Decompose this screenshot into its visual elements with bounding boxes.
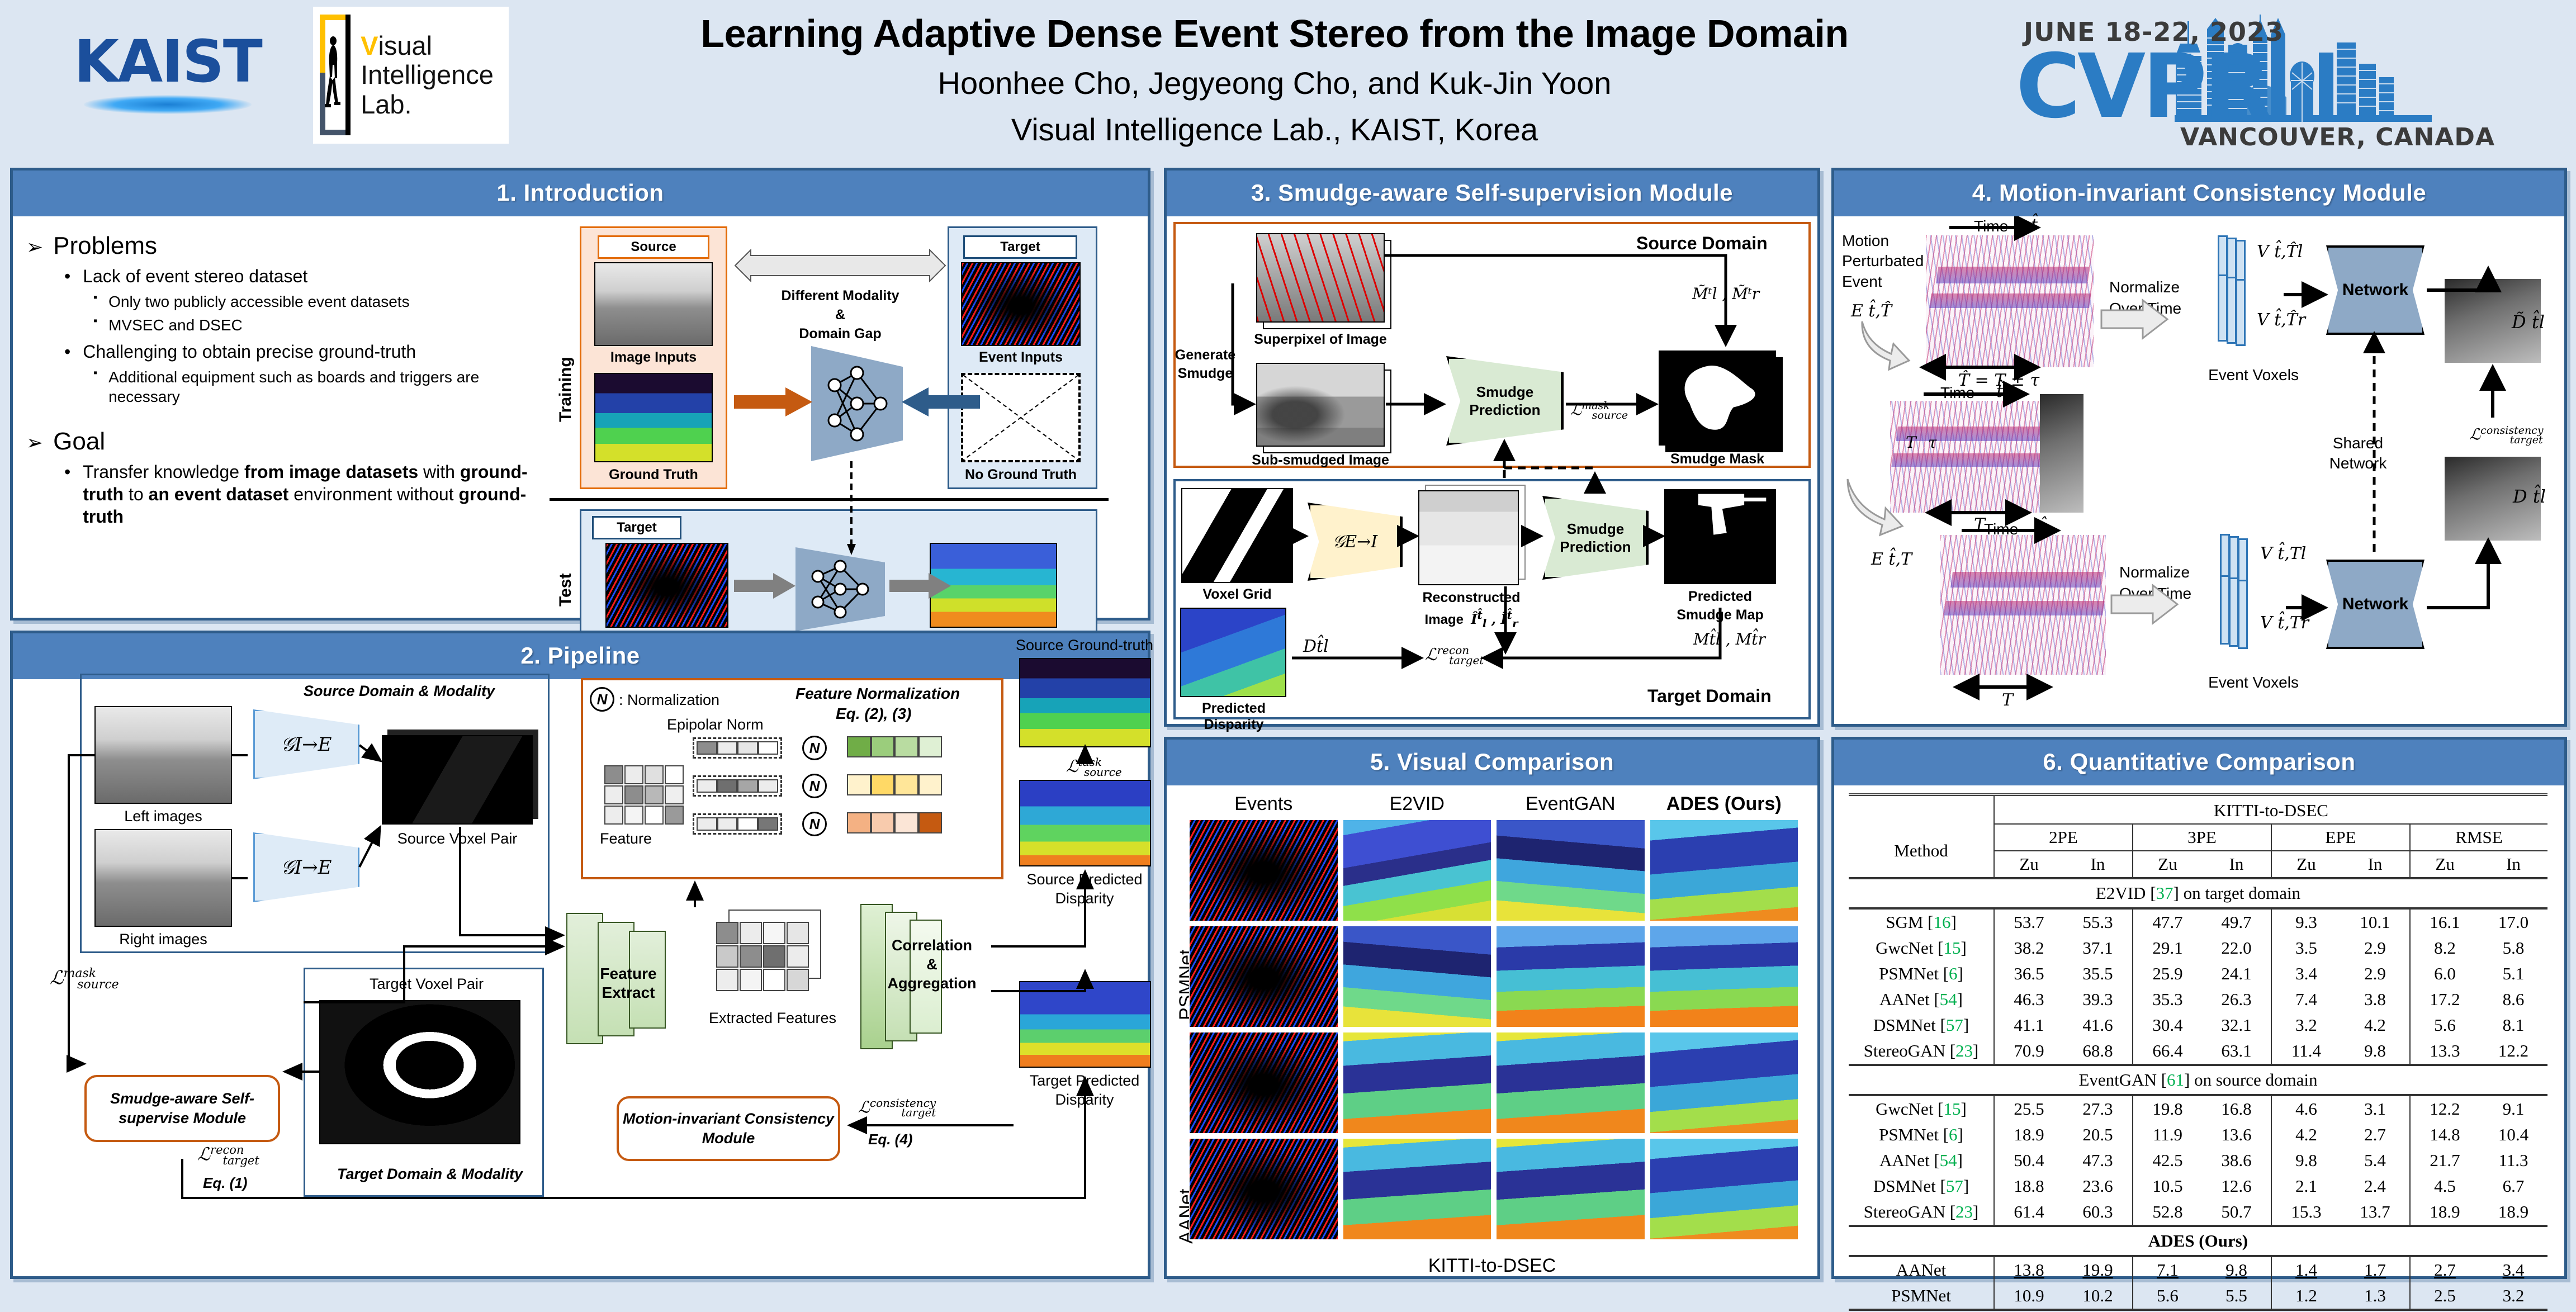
table-cell-value: 18.9 xyxy=(2479,1199,2547,1226)
table-cell-value: 3.8 xyxy=(2341,987,2410,1012)
cell-e2vid-r4 xyxy=(1343,1138,1492,1240)
loss-consistency-target-label: ℒconsistencytarget xyxy=(858,1096,936,1119)
map-symbols: Mt̂l , Mt̂r xyxy=(1693,630,1765,648)
table-cell-value: 35.5 xyxy=(2063,961,2133,987)
mlp-icon xyxy=(811,346,903,461)
table-cell-method: AANet [54] xyxy=(1849,987,1994,1012)
normalize-over-time-label-2: NormalizeOver Time xyxy=(2119,562,2209,604)
table-cell-value: 7.1 xyxy=(2133,1256,2202,1283)
table-row: PSMNet10.910.25.65.51.21.32.53.2 xyxy=(1849,1283,2547,1310)
table-cell-value: 55.3 xyxy=(2063,908,2133,935)
table-cell-value: 10.1 xyxy=(2341,908,2410,935)
source-gt-thumb xyxy=(1019,658,1151,747)
table-cell-value: 2.9 xyxy=(2341,961,2410,987)
target-voxel-thumb xyxy=(319,1000,520,1144)
norm-out-2 xyxy=(847,774,942,795)
table-cell-value: 12.2 xyxy=(2479,1038,2547,1065)
source-tag: Source xyxy=(598,235,709,259)
group-3pe: 3PE xyxy=(2133,824,2271,851)
event-cloud-top xyxy=(1926,235,2094,367)
cell-eventgan-r2 xyxy=(1496,926,1645,1027)
table-cell-value: 9.8 xyxy=(2271,1148,2341,1173)
network-block-top[interactable]: Network xyxy=(2326,245,2425,335)
loss-recon-target-label: ℒrecontarget xyxy=(197,1143,259,1167)
table-cell-value: 4.6 xyxy=(2271,1095,2341,1122)
table-cell-method: GwcNet [15] xyxy=(1849,935,1994,961)
table-cell-value: 17.2 xyxy=(2410,987,2479,1012)
table-cell-value: 19.9 xyxy=(2063,1256,2133,1283)
table-cell-method: PSMNet [6] xyxy=(1849,961,1994,987)
motion-module-box[interactable]: Motion-invariant Consistency Module xyxy=(617,1096,840,1161)
table-cell-value: 3.2 xyxy=(2479,1283,2547,1310)
problems-heading: ➢ Problems xyxy=(26,232,552,260)
image-inputs-caption: Image Inputs xyxy=(594,349,713,366)
table-row: StereoGAN [23]61.460.352.850.715.313.718… xyxy=(1849,1199,2547,1226)
table-cell-value: 5.8 xyxy=(2479,935,2547,961)
cell-ades-r4 xyxy=(1650,1138,1799,1240)
table-row: StereoGAN [23]70.968.866.463.111.49.813.… xyxy=(1849,1038,2547,1065)
sub-smudged-thumb xyxy=(1256,363,1385,447)
correlation-label-1: Correlation xyxy=(872,936,992,955)
table-cell-value: 14.8 xyxy=(2410,1122,2479,1148)
sub-zu-3: Zu xyxy=(2271,851,2341,878)
table-row: SGM [16]53.755.347.749.79.310.116.117.0 xyxy=(1849,908,2547,935)
feat-norm-title: Feature Normalization xyxy=(795,685,960,703)
superpixel-caption: Superpixel of Image xyxy=(1239,331,1401,348)
event-inputs-thumb xyxy=(961,262,1081,346)
visual-comparison-grid: Events E2VID EventGAN ADES (Ours) xyxy=(1189,793,1798,1240)
epipolar-bar-2 xyxy=(693,775,782,797)
lab-logo-isual: isual xyxy=(378,31,432,60)
cell-e2vid-r2 xyxy=(1343,926,1492,1027)
network-block-training xyxy=(811,346,903,461)
table-cell-value: 35.3 xyxy=(2133,987,2202,1012)
t-hat-top: t̂ xyxy=(2031,215,2038,235)
section-4-title: 4. Motion-invariant Consistency Module xyxy=(1834,170,2564,216)
table-cell-value: 8.2 xyxy=(2410,935,2479,961)
table-row: AANet [54]46.339.335.326.37.43.817.28.6 xyxy=(1849,987,2547,1012)
time-label-mid: Time xyxy=(1940,384,1974,402)
table-cell-value: 53.7 xyxy=(1994,908,2063,935)
table-cell-method: PSMNet [6] xyxy=(1849,1122,1994,1148)
feature-cube xyxy=(604,765,684,825)
table-cell-value: 5.6 xyxy=(2133,1283,2202,1310)
table-cell-value: 20.5 xyxy=(2063,1122,2133,1148)
section-1-title: 1. Introduction xyxy=(13,170,1148,216)
dataset-header: KITTI-to-DSEC xyxy=(1994,795,2547,825)
time-label-top: Time xyxy=(1974,217,2008,235)
table-cell-value: 5.1 xyxy=(2479,961,2547,987)
source-domain-label: Source Domain & Modality xyxy=(304,683,495,700)
sub-zu-1: Zu xyxy=(1994,851,2063,878)
kaist-swoosh-graphic xyxy=(84,95,252,114)
table-cell-value: 4.2 xyxy=(2341,1012,2410,1038)
section-motion-module: 4. Motion-invariant Consistency Module M… xyxy=(1831,168,2567,727)
problem-item-2a: ▪Additional equipment such as boards and… xyxy=(93,368,552,406)
ground-truth-caption: Ground Truth xyxy=(594,467,713,483)
method-header: Method xyxy=(1849,824,1994,878)
lab-logo-ab: ab. xyxy=(375,89,411,119)
predicted-disparity-caption: Predicted Disparity xyxy=(1172,700,1295,733)
t-hat-mid: t̂ xyxy=(1996,382,2003,401)
table-cell-value: 2.7 xyxy=(2410,1256,2479,1283)
table-cell-value: 1.4 xyxy=(2271,1256,2341,1283)
superpixel-thumb xyxy=(1256,233,1385,323)
table-cell-value: 16.1 xyxy=(2410,908,2479,935)
quantitative-table: KITTI-to-DSEC Method 2PE 3PE EPE RMSE Zu… xyxy=(1849,793,2547,1311)
table-cell-value: 11.3 xyxy=(2479,1148,2547,1173)
table-cell-value: 36.5 xyxy=(1994,961,2063,987)
correlation-label-3: Aggregation xyxy=(872,974,992,993)
table-cell-value: 1.2 xyxy=(2271,1283,2341,1310)
table-cell-value: 2.5 xyxy=(2410,1283,2479,1310)
table-cell-value: 17.0 xyxy=(2479,908,2547,935)
table-cell-value: 11.4 xyxy=(2271,1038,2341,1065)
table-row: AANet [54]50.447.342.538.69.85.421.711.3 xyxy=(1849,1148,2547,1173)
table-cell-value: 10.5 xyxy=(2133,1173,2202,1199)
ground-truth-thumb xyxy=(594,373,713,462)
goal-item-1: • Transfer knowledge from image datasets… xyxy=(64,461,552,528)
e-symbol: E t̂,T xyxy=(1871,550,1912,569)
table-cell-value: 3.1 xyxy=(2341,1095,2410,1122)
table-cell-value: 2.4 xyxy=(2341,1173,2410,1199)
training-side-label: Training xyxy=(556,357,575,422)
feature-extract-block: Feature Extract xyxy=(566,913,695,1044)
cell-events-r4 xyxy=(1189,1138,1338,1240)
table-group-header: ADES (Ours) xyxy=(1849,1226,2547,1256)
lab-logo-v: V xyxy=(361,31,378,60)
table-cell-value: 7.4 xyxy=(2271,987,2341,1012)
cell-ades-r2 xyxy=(1650,926,1799,1027)
table-cell-method: StereoGAN [23] xyxy=(1849,1038,1994,1065)
loss-recon-target-label-s3: ℒrecontarget xyxy=(1425,643,1484,667)
mask-symbols: M̃ᵗl , M̃ᵗr xyxy=(1692,285,1759,303)
group-2pe: 2PE xyxy=(1994,824,2133,851)
vr-symbol: V t̂,Tr xyxy=(2260,613,2309,633)
t-hat-bottom: t̂ xyxy=(2040,518,2047,538)
table-cell-value: 50.7 xyxy=(2202,1199,2271,1226)
eq1-label: Eq. (1) xyxy=(203,1174,247,1192)
source-domain-label: Source Domain xyxy=(1636,233,1768,254)
lab-logo-i: I xyxy=(361,60,368,89)
event-cloud-mid xyxy=(1890,401,2058,513)
table-cell-value: 37.1 xyxy=(2063,935,2133,961)
source-voxel-pair-thumb xyxy=(382,735,533,825)
epipolar-norm-label: Epipolar Norm xyxy=(667,716,764,733)
cell-e2vid-r3 xyxy=(1343,1032,1492,1134)
smudge-mask-thumb xyxy=(1659,351,1776,446)
table-cell-value: 50.4 xyxy=(1994,1148,2063,1173)
normalization-legend-label: : Normalization xyxy=(619,691,719,709)
table-cell-value: 38.6 xyxy=(2202,1148,2271,1173)
normalization-legend-icon: N xyxy=(590,687,614,712)
sub-in-2: In xyxy=(2202,851,2271,878)
table-cell-value: 24.1 xyxy=(2202,961,2271,987)
table-cell-value: 4.5 xyxy=(2410,1173,2479,1199)
right-images-label: Right images xyxy=(94,931,232,948)
normalize-over-time-label-1: NormalizeOver Time xyxy=(2109,277,2199,319)
double-arrow-icon xyxy=(734,249,946,282)
epipolar-bar-3 xyxy=(693,813,782,835)
cvpr-wordmark: CVPR xyxy=(2016,42,2269,131)
table-cell-value: 32.1 xyxy=(2202,1012,2271,1038)
generate-smudge-label: GenerateSmudge xyxy=(1175,346,1236,382)
table-cell-value: 47.3 xyxy=(2063,1148,2133,1173)
sub-in-3: In xyxy=(2341,851,2410,878)
table-cell-value: 29.1 xyxy=(2133,935,2202,961)
table-cell-value: 5.4 xyxy=(2341,1148,2410,1173)
table-cell-value: 18.9 xyxy=(2410,1199,2479,1226)
cvpr-logo: JUNE 18-22, 2023 CVPR VANCOUVER, CANADA xyxy=(2012,4,2549,155)
table-cell-value: 15.3 xyxy=(2271,1199,2341,1226)
source-pred-disp-label: Source Predicted Disparity xyxy=(1014,870,1156,908)
walking-person-icon xyxy=(325,36,342,111)
table-cell-value: 41.1 xyxy=(1994,1012,2063,1038)
table-cell-value: 25.9 xyxy=(2133,961,2202,987)
blue-arrow-icon xyxy=(902,387,980,416)
table-cell-value: 1.7 xyxy=(2341,1256,2410,1283)
table-cell-value: 70.9 xyxy=(1994,1038,2063,1065)
group-rmse: RMSE xyxy=(2410,824,2547,851)
table-cell-method: AANet [54] xyxy=(1849,1148,1994,1173)
table-row: GwcNet [15]38.237.129.122.03.52.98.25.8 xyxy=(1849,935,2547,961)
section-3-title: 3. Smudge-aware Self-supervision Module xyxy=(1167,170,1817,216)
voxel-grid-thumb xyxy=(1181,488,1293,583)
goal-heading: ➢ Goal xyxy=(26,428,552,456)
cell-eventgan-r1 xyxy=(1496,820,1645,921)
table-cell-method: PSMNet xyxy=(1849,1283,1994,1310)
table-cell-value: 6.7 xyxy=(2479,1173,2547,1199)
table-cell-value: 9.3 xyxy=(2271,908,2341,935)
arrow-bullet-icon-2: ➢ xyxy=(26,431,43,454)
section-introduction: 1. Introduction ➢ Problems •Lack of even… xyxy=(10,168,1150,621)
table-cell-value: 16.8 xyxy=(2202,1095,2271,1122)
predicted-disparity-thumb xyxy=(1180,608,1286,697)
table-cell-value: 3.4 xyxy=(2479,1256,2547,1283)
e-hat-symbol: E t̂,T̂ xyxy=(1851,301,1892,321)
table-cell-value: 61.4 xyxy=(1994,1199,2063,1226)
table-row: PSMNet [6]18.920.511.913.64.22.714.810.4 xyxy=(1849,1122,2547,1148)
table-row: GwcNet [15]25.527.319.816.84.63.112.29.1 xyxy=(1849,1095,2547,1122)
smudge-module-box[interactable]: Smudge-aware Self-supervise Module xyxy=(84,1075,280,1142)
cell-ades-r1 xyxy=(1650,820,1799,921)
quantitative-table-wrapper: KITTI-to-DSEC Method 2PE 3PE EPE RMSE Zu… xyxy=(1849,793,2547,1311)
table-cell-method: DSMNet [57] xyxy=(1849,1173,1994,1199)
predicted-smudge-map-caption: PredictedSmudge Map xyxy=(1653,588,1787,624)
author-list: Hoonhee Cho, Jegyeong Cho, and Kuk-Jin Y… xyxy=(632,65,1917,101)
table-cell-value: 63.1 xyxy=(2202,1038,2271,1065)
table-cell-method: DSMNet [57] xyxy=(1849,1012,1994,1038)
lab-logo-ntelligence: ntelligence xyxy=(368,60,494,89)
table-cell-value: 8.1 xyxy=(2479,1012,2547,1038)
epipolar-bar-1 xyxy=(693,737,782,759)
sub-zu-2: Zu xyxy=(2133,851,2202,878)
target-domain-label: Target Domain xyxy=(1647,686,1772,707)
event-voxels-label-1: Event Voxels xyxy=(2203,366,2304,384)
table-cell-value: 26.3 xyxy=(2202,987,2271,1012)
cell-ades-r3 xyxy=(1650,1032,1799,1134)
loss-mask-source-label-s3: ℒmasksource xyxy=(1570,400,1628,421)
time-label-bottom: Time xyxy=(1984,520,2018,538)
motion-perturbated-event-label: MotionPerturbatedEvent xyxy=(1842,231,1931,292)
gray-arrow-icon-2 xyxy=(889,573,951,599)
d-tilde-symbol: D̃ t̂l xyxy=(2512,311,2545,333)
table-cell-value: 41.6 xyxy=(2063,1012,2133,1038)
table-cell-value: 9.8 xyxy=(2341,1038,2410,1065)
reconstructed-image-caption: Reconstructed Image Ît̂l , Ît̂r xyxy=(1401,589,1541,631)
feature-label: Feature xyxy=(600,830,652,847)
table-row: PSMNet [6]36.535.525.924.13.42.96.05.1 xyxy=(1849,961,2547,987)
target-tag: Target xyxy=(963,235,1077,259)
table-cell-value: 68.8 xyxy=(2063,1038,2133,1065)
right-image-thumb xyxy=(94,829,232,927)
norm-out-3 xyxy=(847,812,942,833)
table-cell-value: 23.6 xyxy=(2063,1173,2133,1199)
table-group-header: EventGAN [61] on source domain xyxy=(1849,1065,2547,1095)
target-domain-label: Target Domain & Modality xyxy=(337,1166,523,1183)
affiliation: Visual Intelligence Lab., KAIST, Korea xyxy=(632,111,1917,148)
table-cell-value: 42.5 xyxy=(2133,1148,2202,1173)
problem-item-2: •Challenging to obtain precise ground-tr… xyxy=(64,341,552,363)
eq4-label: Eq. (4) xyxy=(868,1131,912,1148)
left-image-thumb xyxy=(94,706,232,804)
table-cell-value: 2.7 xyxy=(2341,1122,2410,1148)
loss-mask-source-label: ℒmasksource xyxy=(50,967,119,992)
T-symbol-small: T xyxy=(1906,433,1916,452)
network-block-bottom[interactable]: Network xyxy=(2326,560,2425,649)
section-smudge-module: 3. Smudge-aware Self-supervision Module … xyxy=(1164,168,1820,727)
introduction-text: ➢ Problems •Lack of event stereo dataset… xyxy=(26,229,552,528)
visual-footer: KITTI-to-DSEC xyxy=(1167,1255,1817,1277)
correlation-aggregation-block: Correlation & Aggregation xyxy=(860,904,989,1049)
correlation-label-2: & xyxy=(872,955,992,974)
loss-task-source-label: ℒtasksource xyxy=(1066,755,1122,779)
table-cell-value: 27.3 xyxy=(2063,1095,2133,1122)
page-title: Learning Adaptive Dense Event Stereo fro… xyxy=(632,11,1917,56)
kaist-logo: KAIST xyxy=(34,32,302,130)
col-head-e2vid: E2VID xyxy=(1343,793,1492,815)
event-cloud-bottom xyxy=(1940,535,2106,675)
arrow-bullet-icon: ➢ xyxy=(26,235,43,259)
table-row: DSMNet [57]18.823.610.512.62.12.44.56.7 xyxy=(1849,1173,2547,1199)
orange-arrow-icon xyxy=(734,387,812,416)
table-cell-value: 49.7 xyxy=(2202,908,2271,935)
feature-extract-label-1: Feature xyxy=(570,964,687,983)
sub-zu-4: Zu xyxy=(2410,851,2479,878)
source-predicted-disparity-thumb xyxy=(1019,780,1151,866)
cell-events-r1 xyxy=(1189,820,1338,921)
sub-smudged-caption: Sub-smudged Image xyxy=(1239,452,1401,468)
feat-norm-eq: Eq. (2), (3) xyxy=(836,705,911,723)
table-cell-value: 5.6 xyxy=(2410,1012,2479,1038)
problem-item-1: •Lack of event stereo dataset xyxy=(64,266,552,288)
title-block: Learning Adaptive Dense Event Stereo fro… xyxy=(632,11,1917,148)
norm-circle-3: N xyxy=(802,812,827,836)
lab-logo-l: L xyxy=(361,89,375,119)
table-cell-value: 22.0 xyxy=(2202,935,2271,961)
cell-e2vid-r1 xyxy=(1343,820,1492,921)
lab-logo-text: Visual Intelligence Lab. xyxy=(361,31,509,120)
problems-label: Problems xyxy=(53,232,157,260)
goal-label: Goal xyxy=(53,428,105,456)
target-predicted-disparity-thumb xyxy=(1019,981,1151,1068)
cvpr-city: VANCOUVER, CANADA xyxy=(2180,123,2495,151)
event-cloud-mid-side xyxy=(2040,394,2083,513)
table-cell-value: 13.8 xyxy=(1994,1256,2063,1283)
table-cell-value: 10.4 xyxy=(2479,1122,2547,1148)
table-cell-value: 1.3 xyxy=(2341,1283,2410,1310)
source-voxel-pair-label: Source Voxel Pair xyxy=(371,830,544,847)
col-head-eventgan: EventGAN xyxy=(1496,793,1645,815)
T-symbol-bottom: T xyxy=(2002,690,2013,710)
vl-symbol: V t̂,Tl xyxy=(2260,544,2306,563)
section-quantitative-comparison: 6. Quantitative Comparison KITTI-to-DSEC… xyxy=(1831,737,2567,1279)
shared-network-label: SharedNetwork xyxy=(2316,433,2400,474)
table-cell-value: 12.6 xyxy=(2202,1173,2271,1199)
table-cell-method: StereoGAN [23] xyxy=(1849,1199,1994,1226)
table-cell-value: 13.3 xyxy=(2410,1038,2479,1065)
event-voxels-label-2: Event Voxels xyxy=(2203,674,2304,691)
domain-gap-text: Different Modality & Domain Gap xyxy=(734,287,946,343)
left-images-label: Left images xyxy=(94,808,232,825)
table-cell-value: 2.9 xyxy=(2341,935,2410,961)
table-cell-value: 47.7 xyxy=(2133,908,2202,935)
table-cell-value: 9.1 xyxy=(2479,1095,2547,1122)
vr-hat-symbol: V t̂,T̂r xyxy=(2257,310,2305,330)
extracted-features-cube xyxy=(716,922,809,991)
table-cell-value: 13.7 xyxy=(2341,1199,2410,1226)
extracted-features-label: Extracted Features xyxy=(708,1009,837,1028)
table-cell-value: 4.2 xyxy=(2271,1122,2341,1148)
dashed-arrow-icon xyxy=(845,461,858,556)
source-image-thumb xyxy=(594,262,713,346)
cell-events-r3 xyxy=(1189,1032,1338,1134)
test-side-label: Test xyxy=(556,574,575,607)
table-cell-value: 10.9 xyxy=(1994,1283,2063,1310)
target-pred-disp-label: Target Predicted Disparity xyxy=(1014,1072,1156,1110)
table-cell-value: 6.0 xyxy=(2410,961,2479,987)
table-cell-value: 10.2 xyxy=(2063,1283,2133,1310)
table-cell-value: 18.9 xyxy=(1994,1122,2063,1148)
sub-in-1: In xyxy=(2063,851,2133,878)
predicted-smudge-map-thumb xyxy=(1664,489,1776,584)
cell-events-r2 xyxy=(1189,926,1338,1027)
table-group-header: E2VID [37] on target domain xyxy=(1849,878,2547,908)
cross-icon xyxy=(963,375,1078,460)
gray-arrow-icon xyxy=(734,573,795,599)
table-cell-value: 3.2 xyxy=(2271,1012,2341,1038)
test-event-thumb xyxy=(605,543,728,628)
vl-hat-symbol: V t̂,T̂l xyxy=(2257,242,2303,262)
loss-consistency-target-label-s4: ℒconsistencytarget xyxy=(2469,424,2543,446)
smudge-map-icon xyxy=(1665,490,1775,583)
reconstructed-image-thumb xyxy=(1418,490,1519,585)
problem-item-1b: ▪MVSEC and DSEC xyxy=(93,316,552,335)
no-ground-truth-caption: No Ground Truth xyxy=(961,467,1081,483)
table-cell-method: SGM [16] xyxy=(1849,908,1994,935)
table-cell-value: 9.8 xyxy=(2202,1256,2271,1283)
problem-item-1a: ▪Only two publicly accessible event data… xyxy=(93,292,552,312)
section-pipeline: 2. Pipeline Source Domain & Modality Lef… xyxy=(10,631,1150,1279)
cell-eventgan-r3 xyxy=(1496,1032,1645,1134)
event-inputs-caption: Event Inputs xyxy=(961,349,1081,366)
no-ground-truth-box xyxy=(961,373,1081,462)
table-cell-value: 3.4 xyxy=(2271,961,2341,987)
table-row: DSMNet [57]41.141.630.432.13.24.25.68.1 xyxy=(1849,1012,2547,1038)
cell-eventgan-r4 xyxy=(1496,1138,1645,1240)
table-cell-value: 18.8 xyxy=(1994,1173,2063,1199)
section-visual-comparison: 5. Visual Comparison PSMNet AANet Events… xyxy=(1164,737,1820,1279)
